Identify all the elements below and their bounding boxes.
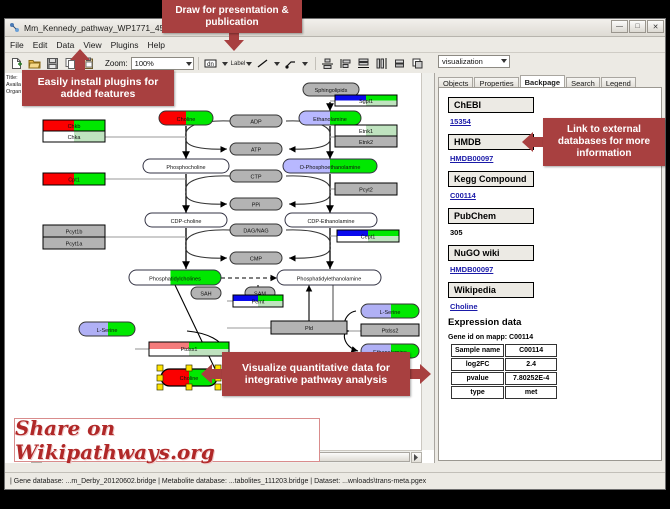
menu-file[interactable]: File [10, 40, 24, 50]
menu-help[interactable]: Help [148, 40, 165, 50]
node-phosphocholine: Phosphocholine [143, 159, 229, 173]
svg-text:Chkb: Chkb [68, 124, 81, 130]
backpage-section-wikipedia: Wikipedia Choline [448, 280, 661, 311]
table-row: Sample name C00114 [451, 344, 557, 357]
stack-icon[interactable] [392, 56, 407, 71]
cell-type-value: met [505, 386, 557, 399]
callout-viz-arrow-right [408, 362, 432, 386]
status-text: | Gene database: ...m_Derby_20120602.bri… [10, 478, 426, 485]
gene-id-label: Gene id on mapp: C00114 [448, 334, 661, 341]
datanode-tool-icon[interactable]: dn [203, 56, 218, 71]
svg-text:Sphingolipids: Sphingolipids [315, 88, 348, 94]
toolbar-separator [198, 57, 199, 70]
canvas-vertical-scrollbar[interactable] [421, 73, 434, 450]
window-buttons: — □ ✕ [611, 20, 664, 33]
line-tool-icon[interactable] [255, 56, 270, 71]
gene-pemt: Pemt [233, 295, 283, 307]
svg-text:dn: dn [207, 62, 214, 68]
svg-text:Chka: Chka [68, 135, 82, 141]
gene-etnk2: Etnk2 [335, 136, 397, 147]
screenshot-root: Mm_Kennedy_pathway_WP1771_45176.gpml — □… [0, 0, 670, 509]
callout-link-arrow [521, 130, 545, 154]
svg-text:ATP: ATP [251, 148, 262, 154]
node-cmp: CMP [230, 252, 282, 264]
node-ethanolamine-top: Ethanolamine [299, 111, 361, 125]
svg-text:Ptdss2: Ptdss2 [382, 329, 399, 335]
callout-plugins-arrow [68, 48, 92, 72]
svg-text:CDP-Ethanolamine: CDP-Ethanolamine [307, 219, 354, 225]
label-tool-label[interactable]: Label [231, 61, 246, 67]
distribute-vertical-icon[interactable] [356, 56, 371, 71]
wikipedia-link[interactable]: Choline [450, 302, 661, 311]
zoom-value: 100% [135, 59, 154, 68]
datanode-dropdown-icon[interactable] [221, 57, 229, 70]
visualization-row: visualization [435, 51, 510, 71]
table-row: log2FC 2.4 [451, 358, 557, 371]
node-phosphatidylethanolamine: Phosphatidylethanolamine [277, 270, 381, 285]
cell-sample-name-value: C00114 [505, 344, 557, 357]
svg-text:Etnk2: Etnk2 [359, 140, 373, 146]
pubchem-header: PubChem [448, 208, 534, 224]
zoom-combobox[interactable]: 100% [131, 57, 194, 70]
toolbar-separator-2 [315, 57, 316, 70]
svg-text:Phosphatidylcholines: Phosphatidylcholines [149, 277, 201, 283]
node-lserine-left: L-Serine [79, 322, 135, 336]
svg-text:Pemt: Pemt [252, 300, 265, 306]
chebi-header: ChEBI [448, 97, 534, 113]
kegg-link[interactable]: C00114 [450, 191, 661, 200]
backpage-section-kegg: Kegg Compound C00114 [448, 169, 661, 200]
scroll-right-icon[interactable] [411, 452, 422, 463]
svg-text:Phosphocholine: Phosphocholine [166, 165, 205, 171]
svg-text:DAG/NAG: DAG/NAG [243, 229, 268, 235]
svg-text:Phosphatidylethanolamine: Phosphatidylethanolamine [297, 277, 362, 283]
callout-install-plugins: Easily install plugins for added feature… [22, 70, 174, 106]
node-phosphatidylcholines: Phosphatidylcholines [129, 270, 221, 285]
anchor-dropdown-icon[interactable] [301, 57, 309, 70]
new-file-icon[interactable] [9, 56, 24, 71]
gene-chkb: Chkb [43, 120, 105, 131]
kegg-header: Kegg Compound [448, 171, 534, 187]
table-row: pvalue 7.80252E-4 [451, 372, 557, 385]
cell-sample-name-key: Sample name [451, 344, 504, 357]
table-row: type met [451, 386, 557, 399]
nugo-header: NuGO wiki [448, 245, 534, 261]
chevron-down-icon[interactable] [501, 59, 507, 63]
cell-log2fc-value: 2.4 [505, 358, 557, 371]
svg-text:Choline: Choline [177, 117, 196, 123]
svg-text:L-Serine: L-Serine [380, 310, 401, 316]
svg-text:Cept1: Cept1 [361, 235, 376, 241]
callout-viz-arrow-left [200, 362, 224, 386]
node-atp: ATP [230, 143, 282, 155]
node-ppi: PPi [230, 198, 282, 210]
zoom-label: Zoom: [105, 59, 128, 68]
node-sah: SAH [191, 287, 221, 299]
pathvisio-icon [9, 22, 20, 33]
gene-chka: Chka [43, 131, 105, 142]
pathway-info-strip: Title: Availa Organ [5, 73, 31, 463]
maximize-button[interactable]: □ [629, 20, 646, 33]
cell-log2fc-key: log2FC [451, 358, 504, 371]
pubchem-value: 305 [450, 228, 661, 237]
minimize-button[interactable]: — [611, 20, 628, 33]
align-left-icon[interactable] [338, 56, 353, 71]
visualization-value: visualization [442, 57, 483, 66]
gene-sgpl1: Sgpl1 [335, 95, 397, 106]
cell-pvalue-key: pvalue [451, 372, 504, 385]
gene-cpt1: Cpt1 [43, 173, 105, 185]
svg-text:Cpt1: Cpt1 [68, 178, 80, 184]
callout-visualize-data: Visualize quantitative data for integrat… [222, 352, 410, 396]
svg-text:Pcyt2: Pcyt2 [359, 188, 373, 194]
node-lserine-right: L-Serine [361, 304, 419, 318]
expression-table: Sample name C00114 log2FC 2.4 pvalue 7.8… [450, 343, 558, 400]
node-cdp-ethanolamine: CDP-Ethanolamine [285, 213, 377, 227]
svg-text:L-Serine: L-Serine [97, 328, 118, 334]
close-button[interactable]: ✕ [647, 20, 664, 33]
gene-cept1: Cept1 [337, 230, 399, 242]
gene-pcyt2: Pcyt2 [335, 183, 397, 195]
open-folder-icon[interactable] [27, 56, 42, 71]
backpage-section-pubchem: PubChem 305 [448, 206, 661, 237]
node-o-phosphoethanolamine: O-Phosphoethanolamine [283, 159, 377, 173]
svg-text:Ethanolamine: Ethanolamine [313, 117, 347, 123]
svg-text:Choline: Choline [180, 376, 199, 382]
visualization-combobox[interactable]: visualization [438, 55, 510, 68]
gene-ptdss2: Ptdss2 [361, 324, 419, 336]
cell-pvalue-value: 7.80252E-4 [505, 372, 557, 385]
cell-type-key: type [451, 386, 504, 399]
node-sphingolipids: Sphingolipids [303, 83, 359, 96]
svg-text:Etnk1: Etnk1 [359, 129, 373, 135]
svg-text:CMP: CMP [250, 257, 263, 263]
label-dropdown-icon[interactable] [245, 57, 253, 70]
wikipedia-header: Wikipedia [448, 282, 534, 298]
svg-text:PPi: PPi [252, 203, 261, 209]
distribute-horizontal-icon[interactable] [374, 56, 389, 71]
menu-edit[interactable]: Edit [33, 40, 48, 50]
callout-draw-presentation: Draw for presentation & publication [162, 0, 302, 33]
callout-external-links: Link to external databases for more info… [543, 118, 665, 166]
svg-text:CTP: CTP [251, 175, 262, 181]
gene-pcyt1b: Pcyt1b [43, 225, 105, 237]
svg-text:CDP-choline: CDP-choline [171, 219, 202, 225]
status-bar: | Gene database: ...m_Derby_20120602.bri… [5, 472, 665, 489]
align-center-icon[interactable] [320, 56, 335, 71]
anchor-line-tool-icon[interactable] [283, 56, 298, 71]
gene-ptdss1: Ptdss1 [149, 342, 229, 356]
node-dag-nag: DAG/NAG [230, 224, 282, 236]
node-choline-top: Choline [159, 111, 213, 125]
menu-plugins[interactable]: Plugins [111, 40, 139, 50]
svg-text:O-Phosphoethanolamine: O-Phosphoethanolamine [300, 165, 361, 171]
title-bar: Mm_Kennedy_pathway_WP1771_45176.gpml — □… [5, 19, 665, 37]
svg-text:Sgpl1: Sgpl1 [359, 99, 373, 105]
svg-text:Pld: Pld [305, 326, 313, 332]
share-banner: Share on Wikipathways.org [14, 418, 320, 462]
svg-text:SAH: SAH [200, 292, 211, 298]
node-cdp-choline: CDP-choline [145, 213, 227, 227]
svg-text:ADP: ADP [250, 120, 262, 126]
gene-etnk1: Etnk1 [335, 125, 397, 136]
pathway-editor-pane: Title: Availa Organ [5, 73, 435, 463]
node-ctp: CTP [230, 170, 282, 182]
svg-text:Pcyt1b: Pcyt1b [66, 230, 83, 236]
callout-top-arrow [222, 30, 246, 52]
share-banner-text: Share on Wikipathways.org [15, 416, 319, 464]
svg-text:Ptdss1: Ptdss1 [181, 347, 198, 353]
backpage-section-nugo: NuGO wiki HMDB00097 [448, 243, 661, 274]
gene-pld: Pld [271, 321, 347, 334]
save-icon[interactable] [45, 56, 60, 71]
chevron-down-icon[interactable] [186, 62, 192, 66]
order-icon[interactable] [410, 56, 425, 71]
gene-pcyt1a: Pcyt1a [43, 237, 105, 249]
expression-data-title: Expression data [448, 317, 661, 328]
line-dropdown-icon[interactable] [273, 57, 281, 70]
svg-text:Pcyt1a: Pcyt1a [66, 242, 84, 248]
nugo-link[interactable]: HMDB00097 [450, 265, 661, 274]
node-adp: ADP [230, 115, 282, 127]
menu-bar: File Edit Data View Plugins Help [5, 37, 665, 53]
